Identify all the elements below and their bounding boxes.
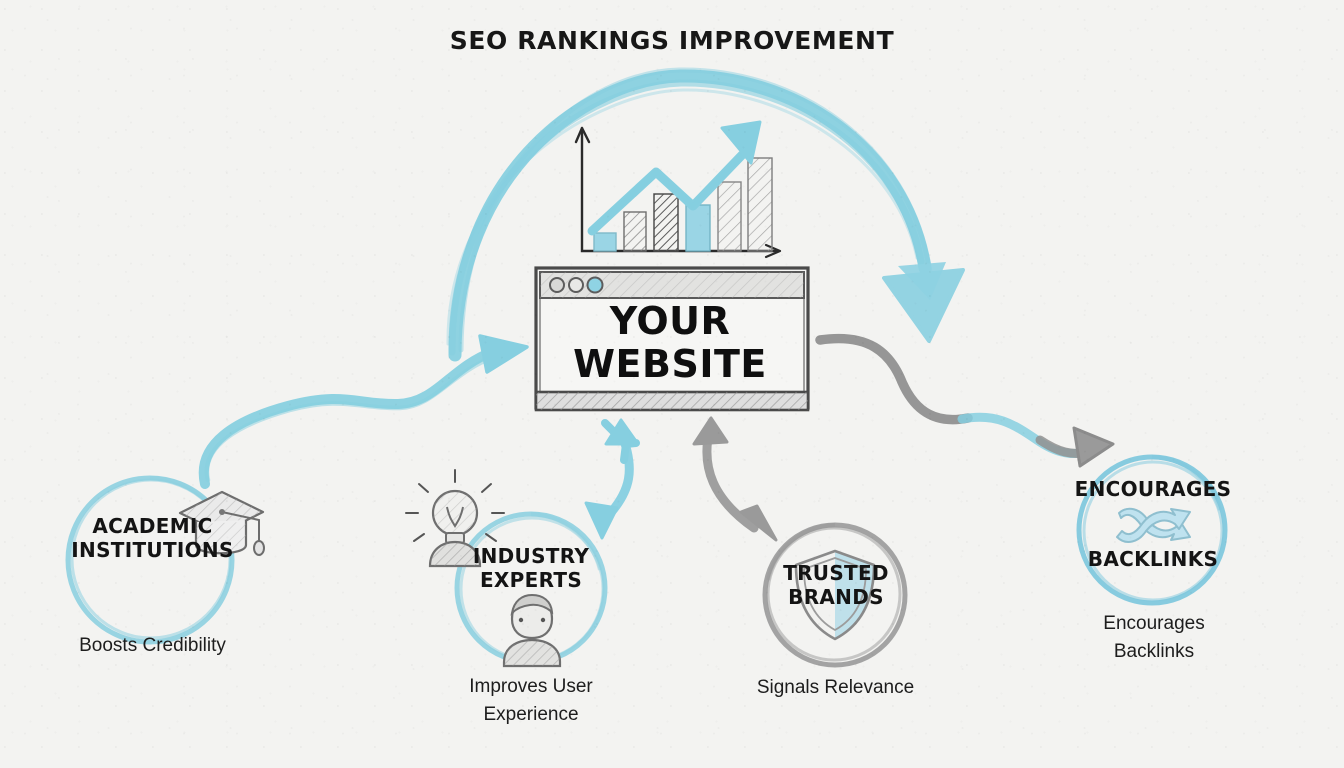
caption-line-1: Improves User <box>426 673 636 701</box>
label-line-2: INSTITUTIONS <box>60 539 245 563</box>
node-label-academic-institutions: ACADEMIC INSTITUTIONS <box>60 515 245 562</box>
browser-dot-1 <box>550 278 564 292</box>
label-line-2: BACKLINKS <box>1068 548 1238 570</box>
your-website-line-2: WEBSITE <box>540 343 800 386</box>
label-line-2: BRANDS <box>762 586 910 610</box>
caption-trusted-brands: Signals Relevance <box>728 674 943 702</box>
chart-bar <box>624 212 646 251</box>
center-left-double-arrow <box>586 420 638 538</box>
browser-content-text: YOUR WEBSITE <box>540 300 800 385</box>
person-icon <box>504 595 560 666</box>
diagram-canvas: SEO RANKINGS IMPROVEMENT YOUR WEBSITE AC… <box>0 0 1344 768</box>
browser-dot-3 <box>588 278 603 293</box>
caption-line-2: Backlinks <box>1058 638 1250 666</box>
page-title: SEO RANKINGS IMPROVEMENT <box>0 26 1344 55</box>
node-label-encourages-backlinks: ENCOURAGES BACKLINKS <box>1068 478 1238 570</box>
node-label-industry-experts: INDUSTRY EXPERTS <box>456 545 606 592</box>
left-wavy-arrow <box>204 336 527 484</box>
caption-line-1: Encourages <box>1058 610 1250 638</box>
caption-academic-institutions: Boosts Credibility <box>35 632 270 660</box>
caption-industry-experts: Improves User Experience <box>426 673 636 728</box>
chart-bar <box>594 233 616 251</box>
browser-dot-2 <box>569 278 583 292</box>
label-line-1: ENCOURAGES <box>1068 478 1238 500</box>
chart-bar <box>654 194 678 251</box>
your-website-line-1: YOUR <box>540 300 800 343</box>
label-line-1: ACADEMIC <box>60 515 245 539</box>
chart-bar <box>748 158 772 251</box>
chart-bar <box>718 182 741 251</box>
right-wavy-arrow <box>820 339 1113 466</box>
label-line-1: TRUSTED <box>762 562 910 586</box>
chart-bar <box>686 205 710 251</box>
bar-chart-sketch <box>576 122 780 257</box>
caption-encourages-backlinks: Encourages Backlinks <box>1058 610 1250 665</box>
center-right-double-arrow <box>694 418 776 540</box>
node-label-trusted-brands: TRUSTED BRANDS <box>762 562 910 609</box>
label-line-2: EXPERTS <box>456 569 606 593</box>
label-line-1: INDUSTRY <box>456 545 606 569</box>
caption-line-2: Experience <box>426 701 636 729</box>
